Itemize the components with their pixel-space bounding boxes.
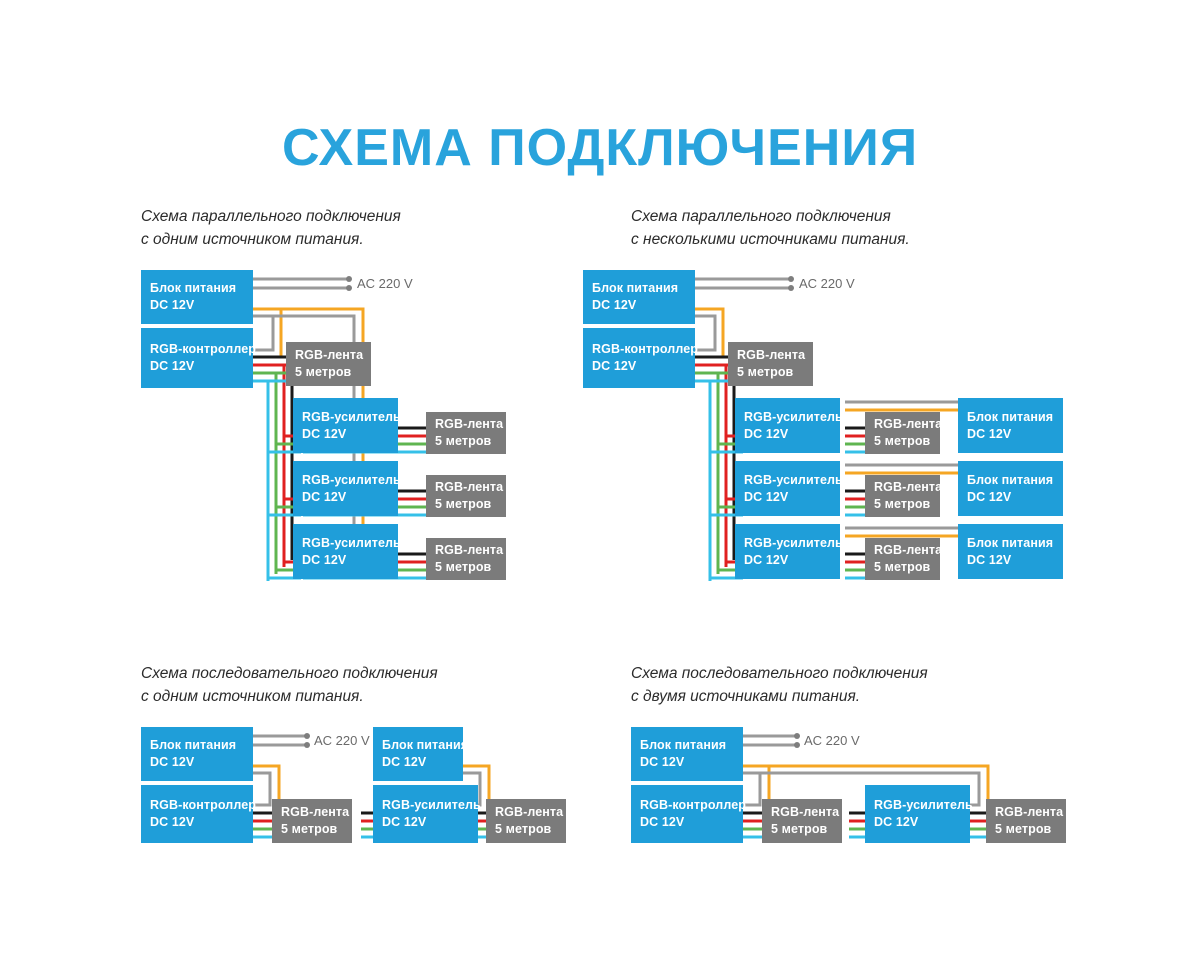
block-label-line1: Блок питания	[967, 535, 1063, 552]
block-label-line2: DC 12V	[640, 754, 743, 771]
block-amplifier[interactable]: RGB-усилитель DC 12V	[865, 785, 970, 843]
block-label-line2: DC 12V	[382, 754, 463, 771]
block-label-line1: RGB-усилитель	[302, 409, 398, 426]
block-tape[interactable]: RGB-лента 5 метров	[486, 799, 566, 843]
block-amplifier[interactable]: RGB-усилитель DC 12V	[293, 398, 398, 453]
block-label-line1: Блок питания	[967, 472, 1063, 489]
block-tape[interactable]: RGB-лента 5 метров	[728, 342, 813, 386]
block-label-line1: RGB-контроллер	[150, 797, 253, 814]
block-label-line1: Блок питания	[150, 280, 253, 297]
block-label-line1: Блок питания	[592, 280, 695, 297]
diagram-caption-parallel-multi: Схема параллельного подключения с нескол…	[631, 205, 910, 251]
block-label-line2: DC 12V	[302, 426, 398, 443]
page-title: СХЕМА ПОДКЛЮЧЕНИЯ	[0, 118, 1200, 178]
block-amplifier[interactable]: RGB-усилитель DC 12V	[373, 785, 478, 843]
block-label-line1: RGB-контроллер	[150, 341, 253, 358]
diagram-caption-series-single: Схема последовательного подключения с од…	[141, 662, 438, 708]
block-controller[interactable]: RGB-контроллер DC 12V	[141, 785, 253, 843]
block-label-line2: DC 12V	[150, 754, 253, 771]
block-label-line1: RGB-лента	[874, 542, 940, 559]
block-amplifier[interactable]: RGB-усилитель DC 12V	[293, 524, 398, 579]
block-label-line1: RGB-контроллер	[640, 797, 743, 814]
block-label-line1: RGB-усилитель	[302, 472, 398, 489]
diagram-series-single-source: Блок питания DC 12V RGB-контроллер DC 12…	[141, 727, 571, 847]
block-label-line1: RGB-лента	[295, 347, 371, 364]
block-psu[interactable]: Блок питания DC 12V	[141, 270, 253, 324]
block-label-line2: DC 12V	[874, 814, 970, 831]
block-label-line2: 5 метров	[495, 821, 566, 838]
block-label-line2: 5 метров	[435, 496, 506, 513]
block-label-line2: 5 метров	[737, 364, 813, 381]
block-label-line1: Блок питания	[640, 737, 743, 754]
diagram-parallel-multi-source: Блок питания DC 12V RGB-контроллер DC 12…	[583, 270, 1063, 580]
block-tape[interactable]: RGB-лента 5 метров	[426, 538, 506, 580]
block-tape[interactable]: RGB-лента 5 метров	[272, 799, 352, 843]
block-label-line2: 5 метров	[995, 821, 1066, 838]
block-psu[interactable]: Блок питания DC 12V	[631, 727, 743, 781]
block-label-line2: 5 метров	[874, 559, 940, 576]
block-controller[interactable]: RGB-контроллер DC 12V	[631, 785, 743, 843]
ac-mains-label: AC 220 V	[804, 733, 860, 748]
block-label-line2: DC 12V	[967, 426, 1063, 443]
block-label-line1: Блок питания	[150, 737, 253, 754]
block-amplifier[interactable]: RGB-усилитель DC 12V	[735, 524, 840, 579]
block-label-line2: DC 12V	[592, 358, 695, 375]
block-label-line1: Блок питания	[382, 737, 463, 754]
ac-mains-wire-4	[743, 733, 800, 748]
block-label-line1: RGB-лента	[435, 479, 506, 496]
diagram-series-two-sources: Блок питания DC 12V RGB-контроллер DC 12…	[631, 727, 1071, 847]
block-label-line1: RGB-лента	[737, 347, 813, 364]
block-controller[interactable]: RGB-контроллер DC 12V	[141, 328, 253, 388]
block-label-line1: RGB-лента	[874, 416, 940, 433]
block-label-line1: RGB-лента	[435, 416, 506, 433]
block-label-line1: RGB-усилитель	[302, 535, 398, 552]
block-label-line2: DC 12V	[150, 814, 253, 831]
block-label-line1: RGB-лента	[495, 804, 566, 821]
block-tape[interactable]: RGB-лента 5 метров	[986, 799, 1066, 843]
block-amplifier[interactable]: RGB-усилитель DC 12V	[735, 398, 840, 453]
block-label-line1: Блок питания	[967, 409, 1063, 426]
block-label-line2: DC 12V	[150, 358, 253, 375]
block-tape[interactable]: RGB-лента 5 метров	[865, 412, 940, 454]
block-psu[interactable]: Блок питания DC 12V	[373, 727, 463, 781]
block-amplifier[interactable]: RGB-усилитель DC 12V	[735, 461, 840, 516]
block-amplifier[interactable]: RGB-усилитель DC 12V	[293, 461, 398, 516]
diagram-caption-parallel-single: Схема параллельного подключения с одним …	[141, 205, 401, 251]
block-label-line2: DC 12V	[744, 552, 840, 569]
block-psu[interactable]: Блок питания DC 12V	[583, 270, 695, 324]
wiring-diagram-page: СХЕМА ПОДКЛЮЧЕНИЯ Схема параллельного по…	[0, 0, 1200, 960]
block-label-line2: 5 метров	[874, 433, 940, 450]
diagram-caption-series-two: Схема последовательного подключения с дв…	[631, 662, 928, 708]
block-label-line1: RGB-контроллер	[592, 341, 695, 358]
ac-mains-wire-1	[253, 276, 352, 291]
block-tape[interactable]: RGB-лента 5 метров	[762, 799, 842, 843]
block-tape[interactable]: RGB-лента 5 метров	[865, 538, 940, 580]
ac-mains-wire-3	[253, 733, 310, 748]
block-psu[interactable]: Блок питания DC 12V	[958, 398, 1063, 453]
block-psu[interactable]: Блок питания DC 12V	[141, 727, 253, 781]
block-label-line1: RGB-лента	[874, 479, 940, 496]
psu-to-controller-jumper-2	[695, 309, 723, 357]
block-label-line2: 5 метров	[771, 821, 842, 838]
block-controller[interactable]: RGB-контроллер DC 12V	[583, 328, 695, 388]
ac-mains-wire-2	[695, 276, 794, 291]
block-tape[interactable]: RGB-лента 5 метров	[426, 412, 506, 454]
block-label-line2: 5 метров	[281, 821, 352, 838]
block-label-line2: DC 12V	[744, 489, 840, 506]
block-label-line1: RGB-лента	[281, 804, 352, 821]
block-label-line2: DC 12V	[592, 297, 695, 314]
block-label-line2: DC 12V	[302, 489, 398, 506]
block-label-line1: RGB-лента	[771, 804, 842, 821]
block-label-line1: RGB-усилитель	[744, 535, 840, 552]
block-label-line2: DC 12V	[640, 814, 743, 831]
block-label-line1: RGB-усилитель	[744, 409, 840, 426]
block-label-line2: 5 метров	[874, 496, 940, 513]
block-label-line2: DC 12V	[744, 426, 840, 443]
ac-mains-label: AC 220 V	[799, 276, 855, 291]
block-label-line1: RGB-лента	[435, 542, 506, 559]
block-label-line2: 5 метров	[435, 433, 506, 450]
block-label-line2: DC 12V	[150, 297, 253, 314]
block-label-line1: RGB-усилитель	[382, 797, 478, 814]
ac-mains-label: AC 220 V	[357, 276, 413, 291]
block-label-line2: DC 12V	[382, 814, 478, 831]
block-label-line1: RGB-усилитель	[744, 472, 840, 489]
block-label-line1: RGB-усилитель	[874, 797, 970, 814]
block-tape[interactable]: RGB-лента 5 метров	[286, 342, 371, 386]
block-label-line2: DC 12V	[302, 552, 398, 569]
block-label-line2: 5 метров	[295, 364, 371, 381]
block-label-line2: DC 12V	[967, 489, 1063, 506]
block-tape[interactable]: RGB-лента 5 метров	[865, 475, 940, 517]
block-psu[interactable]: Блок питания DC 12V	[958, 461, 1063, 516]
ac-mains-label: AC 220 V	[314, 733, 370, 748]
diagram-parallel-single-source: Блок питания DC 12V RGB-контроллер DC 12…	[141, 270, 541, 580]
block-label-line2: DC 12V	[967, 552, 1063, 569]
block-label-line2: 5 метров	[435, 559, 506, 576]
block-label-line1: RGB-лента	[995, 804, 1066, 821]
block-tape[interactable]: RGB-лента 5 метров	[426, 475, 506, 517]
block-psu[interactable]: Блок питания DC 12V	[958, 524, 1063, 579]
